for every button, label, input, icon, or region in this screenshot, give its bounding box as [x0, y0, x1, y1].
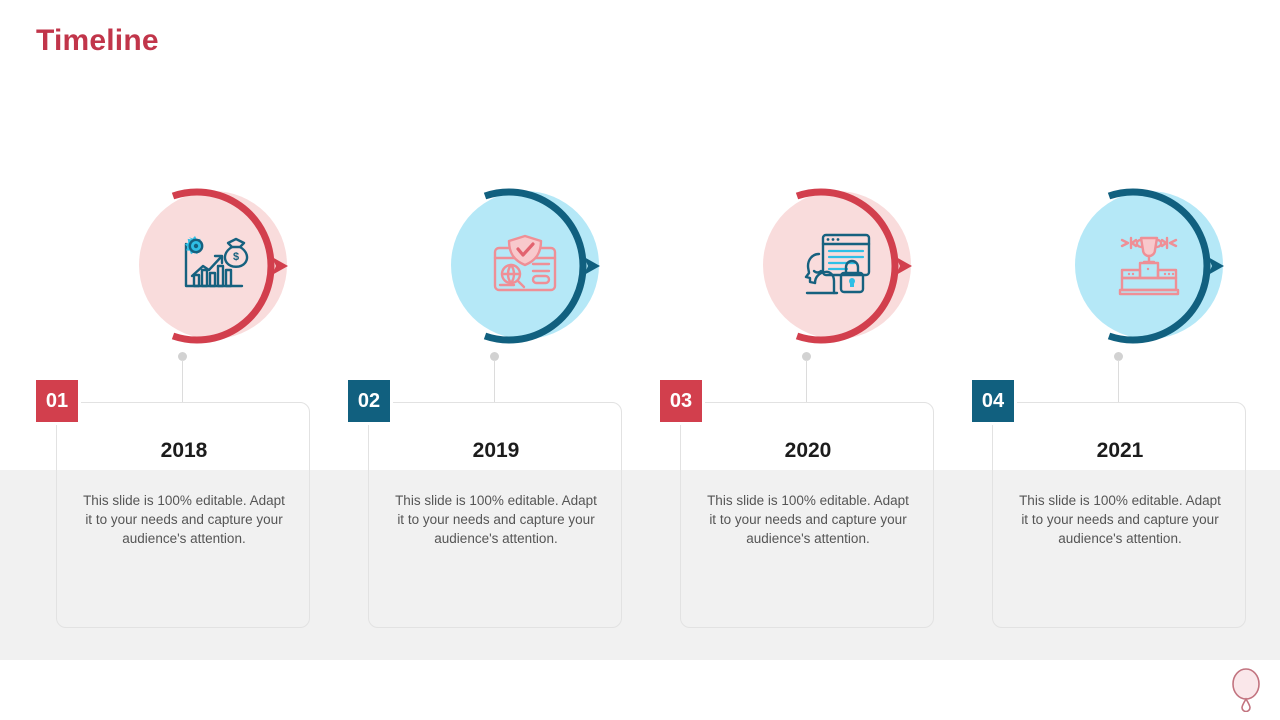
step-badge-4[interactable]: 04	[969, 377, 1017, 425]
step-description-4: This slide is 100% editable. Adapt it to…	[1015, 491, 1225, 548]
step-card-3[interactable]: 2020 This slide is 100% editable. Adapt …	[680, 402, 934, 628]
timeline: $ 2018 This slide is 100% editable. Adap…	[0, 0, 1280, 720]
step-circle-4[interactable]	[1048, 180, 1228, 352]
person-browser-lock-icon	[763, 191, 911, 339]
step-circle-1[interactable]: $	[112, 180, 292, 352]
step-badge-3[interactable]: 03	[657, 377, 705, 425]
step-number-4: 04	[982, 390, 1004, 413]
step-year-3: 2020	[681, 439, 935, 463]
step-circle-3[interactable]	[736, 180, 916, 352]
connector-line-3	[806, 360, 807, 407]
step-badge-2[interactable]: 02	[345, 377, 393, 425]
shield-web-security-icon	[451, 191, 599, 339]
step-year-2: 2019	[369, 439, 623, 463]
timeline-step-4[interactable]: 2021 This slide is 100% editable. Adapt …	[963, 0, 1275, 720]
timeline-step-1[interactable]: $ 2018 This slide is 100% editable. Adap…	[27, 0, 339, 720]
step-card-2[interactable]: 2019 This slide is 100% editable. Adapt …	[368, 402, 622, 628]
step-number-2: 02	[358, 390, 380, 413]
step-card-1[interactable]: 2018 This slide is 100% editable. Adapt …	[56, 402, 310, 628]
svg-text:$: $	[233, 251, 239, 263]
connector-line-1	[182, 360, 183, 407]
step-badge-1[interactable]: 01	[33, 377, 81, 425]
step-circle-2[interactable]	[424, 180, 604, 352]
step-number-3: 03	[670, 390, 692, 413]
step-card-4[interactable]: 2021 This slide is 100% editable. Adapt …	[992, 402, 1246, 628]
step-year-1: 2018	[57, 439, 311, 463]
step-year-4: 2021	[993, 439, 1247, 463]
connector-line-4	[1118, 360, 1119, 407]
trophy-podium-icon	[1075, 191, 1223, 339]
step-description-3: This slide is 100% editable. Adapt it to…	[703, 491, 913, 548]
timeline-step-3[interactable]: 2020 This slide is 100% editable. Adapt …	[651, 0, 963, 720]
connector-line-2	[494, 360, 495, 407]
step-description-2: This slide is 100% editable. Adapt it to…	[391, 491, 601, 548]
magnifier-deco	[1226, 666, 1266, 712]
step-number-1: 01	[46, 390, 68, 413]
growth-chart-money-icon: $	[139, 191, 287, 339]
timeline-step-2[interactable]: 2019 This slide is 100% editable. Adapt …	[339, 0, 651, 720]
step-description-1: This slide is 100% editable. Adapt it to…	[79, 491, 289, 548]
